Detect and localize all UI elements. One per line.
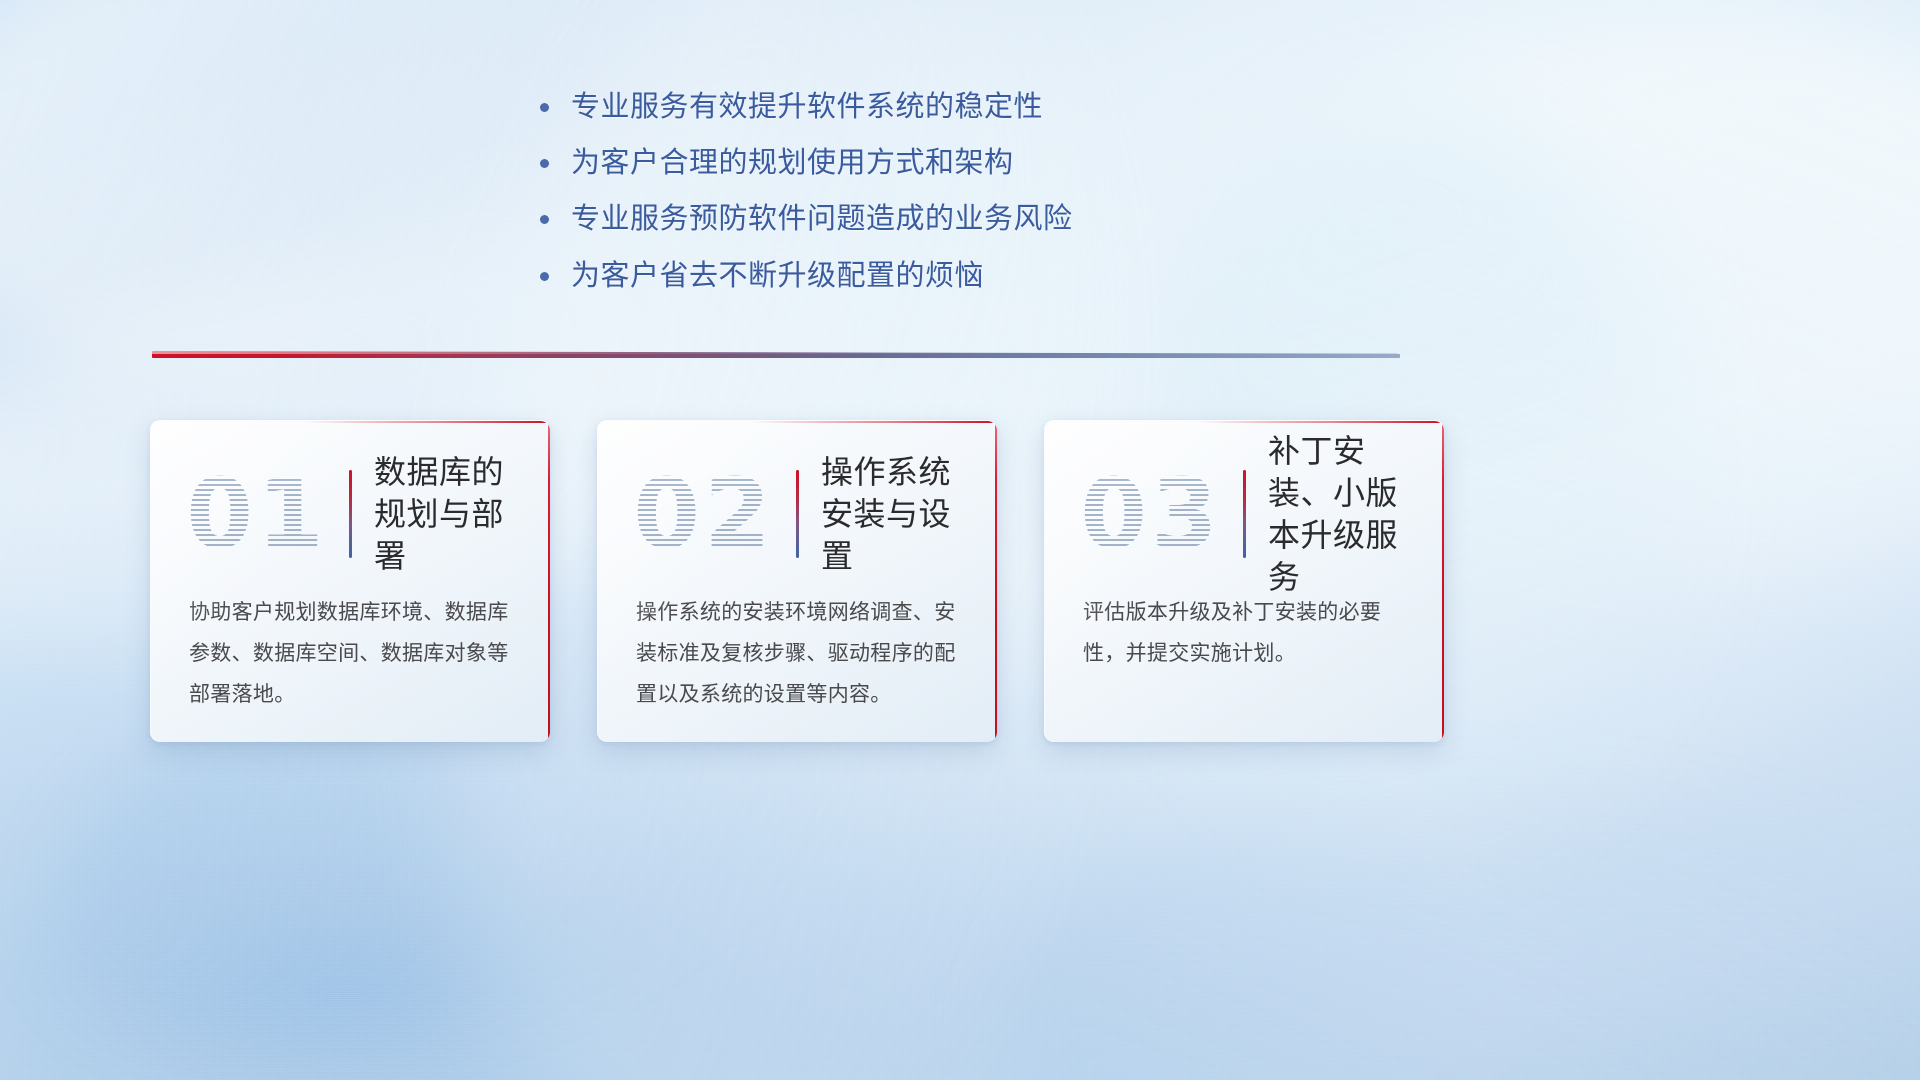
card-header: 02 02 操作系统安装与设置 — [598, 421, 997, 571]
section-divider — [152, 348, 1400, 362]
card-title-divider — [796, 470, 799, 558]
card-title: 补丁安装、小版本升级服务 — [1268, 430, 1418, 599]
divider-gloss — [152, 351, 1400, 354]
card-body-text: 协助客户规划数据库环境、数据库参数、数据库空间、数据库对象等部署落地。 — [151, 571, 550, 716]
bullet-item: 为客户合理的规划使用方式和架构 — [540, 146, 1300, 180]
card-header: 01 01 数据库的规划与部署 — [151, 421, 550, 571]
bullet-dot-icon — [540, 159, 549, 168]
card-title: 数据库的规划与部署 — [374, 451, 524, 578]
bullet-item: 专业服务有效提升软件系统的稳定性 — [540, 90, 1300, 124]
card-title-divider — [1243, 470, 1246, 558]
bullet-list: 专业服务有效提升软件系统的稳定性 为客户合理的规划使用方式和架构 专业服务预防软… — [540, 90, 1300, 315]
bullet-dot-icon — [540, 215, 549, 224]
card-title: 操作系统安装与设置 — [821, 451, 971, 578]
bullet-text: 专业服务预防软件问题造成的业务风险 — [571, 202, 1300, 236]
card-number-watermark: 02 02 — [624, 462, 784, 566]
service-card-list: 01 01 数据库的规划与部署 协助客户规划数据库环境、数据库参数、数据库空间、… — [150, 420, 1444, 742]
card-number-overlay: 01 — [177, 462, 337, 566]
bullet-text: 为客户合理的规划使用方式和架构 — [571, 146, 1300, 180]
bullet-text: 为客户省去不断升级配置的烦恼 — [571, 259, 1300, 293]
bullet-text: 专业服务有效提升软件系统的稳定性 — [571, 90, 1300, 124]
service-card[interactable]: 02 02 操作系统安装与设置 操作系统的安装环境网络调查、安装标准及复核步骤、… — [597, 420, 997, 742]
card-title-divider — [349, 470, 352, 558]
service-card[interactable]: 03 03 补丁安装、小版本升级服务 评估版本升级及补丁安装的必要性，并提交实施… — [1044, 420, 1444, 742]
card-header: 03 03 补丁安装、小版本升级服务 — [1045, 421, 1444, 571]
slide-content: 专业服务有效提升软件系统的稳定性 为客户合理的规划使用方式和架构 专业服务预防软… — [0, 0, 1920, 1080]
card-body-text: 操作系统的安装环境网络调查、安装标准及复核步骤、驱动程序的配置以及系统的设置等内… — [598, 571, 997, 716]
bullet-dot-icon — [540, 272, 549, 281]
card-number-overlay: 03 — [1071, 462, 1231, 566]
card-number-watermark: 03 03 — [1071, 462, 1231, 566]
card-number-overlay: 02 — [624, 462, 784, 566]
card-number-watermark: 01 01 — [177, 462, 337, 566]
service-card[interactable]: 01 01 数据库的规划与部署 协助客户规划数据库环境、数据库参数、数据库空间、… — [150, 420, 550, 742]
bullet-dot-icon — [540, 103, 549, 112]
bullet-item: 为客户省去不断升级配置的烦恼 — [540, 259, 1300, 293]
bullet-item: 专业服务预防软件问题造成的业务风险 — [540, 202, 1300, 236]
